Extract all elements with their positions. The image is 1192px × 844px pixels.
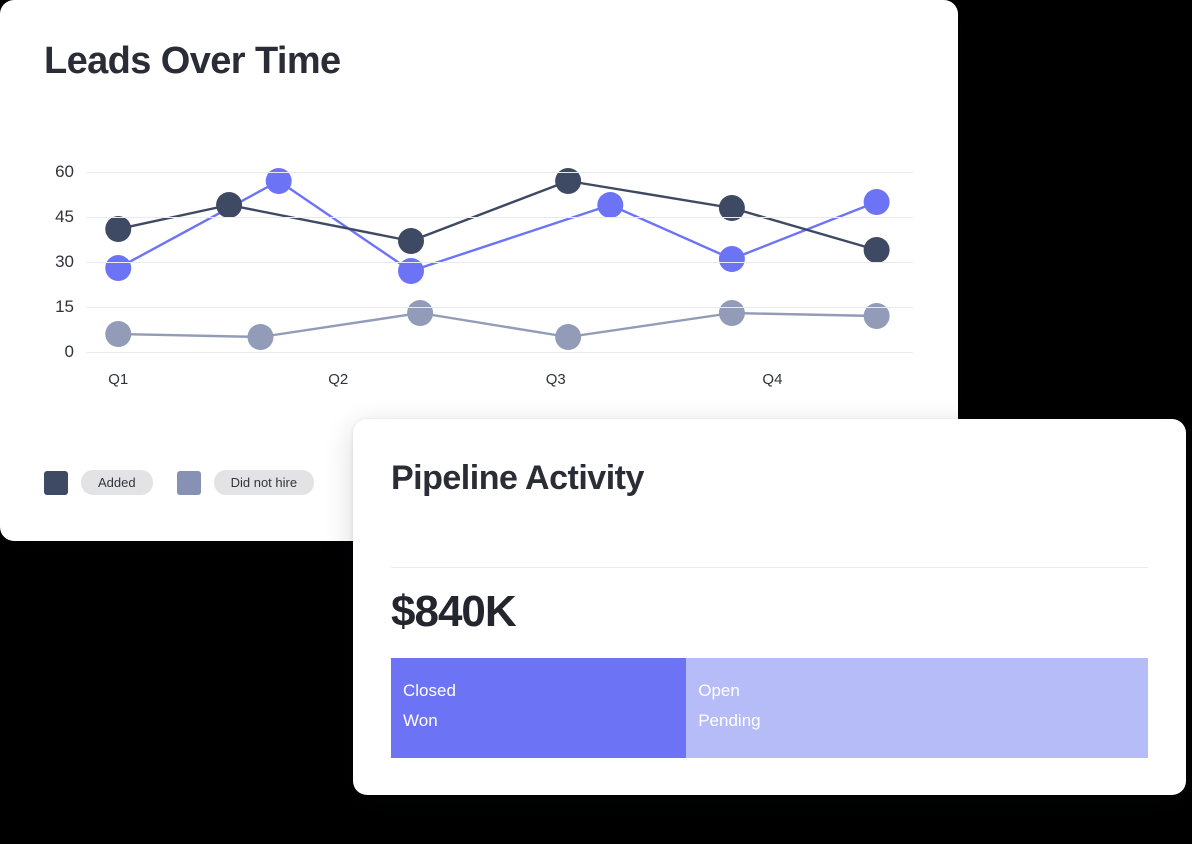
pipeline-segment-label: Closed bbox=[403, 676, 686, 706]
chart-gridlines bbox=[86, 172, 913, 352]
y-axis-tick-label: 0 bbox=[34, 342, 74, 362]
gridline bbox=[86, 217, 913, 218]
gridline bbox=[86, 307, 913, 308]
legend-item[interactable]: Did not hire bbox=[177, 470, 314, 495]
y-axis-labels: 604530150 bbox=[30, 172, 74, 352]
x-axis-tick-label: Q1 bbox=[108, 371, 128, 388]
gridline bbox=[86, 262, 913, 263]
pipeline-segment[interactable]: OpenPending bbox=[686, 658, 1148, 758]
y-axis-tick-label: 15 bbox=[34, 297, 74, 317]
pipeline-segment[interactable]: ClosedWon bbox=[391, 658, 686, 758]
gridline bbox=[86, 352, 913, 353]
y-axis-tick-label: 60 bbox=[34, 162, 74, 182]
legend-swatch-icon bbox=[44, 471, 68, 495]
y-axis-tick-label: 30 bbox=[34, 252, 74, 272]
legend-label: Did not hire bbox=[214, 470, 314, 495]
chart-legend: AddedDid not hire bbox=[44, 470, 314, 495]
pipeline-activity-card: Pipeline Activity $840K ClosedWonOpenPen… bbox=[353, 419, 1186, 795]
legend-label: Added bbox=[81, 470, 153, 495]
legend-swatch-icon bbox=[177, 471, 201, 495]
y-axis-tick-label: 45 bbox=[34, 207, 74, 227]
divider bbox=[391, 567, 1148, 568]
gridline bbox=[86, 172, 913, 173]
pipeline-segment-label: Open bbox=[698, 676, 1148, 706]
pipeline-stacked-bar: ClosedWonOpenPending bbox=[391, 658, 1148, 758]
x-axis-tick-label: Q3 bbox=[546, 371, 566, 388]
x-axis-tick-label: Q2 bbox=[328, 371, 348, 388]
screen: Leads Over Time 604530150 Q1Q2Q3Q4 Added… bbox=[0, 0, 1192, 844]
legend-item[interactable]: Added bbox=[44, 470, 153, 495]
x-axis-tick-label: Q4 bbox=[762, 371, 782, 388]
pipeline-title: Pipeline Activity bbox=[391, 459, 644, 498]
pipeline-segment-sublabel: Won bbox=[403, 706, 686, 736]
pipeline-amount: $840K bbox=[391, 587, 516, 637]
x-axis-labels: Q1Q2Q3Q4 bbox=[86, 371, 913, 393]
pipeline-segment-sublabel: Pending bbox=[698, 706, 1148, 736]
